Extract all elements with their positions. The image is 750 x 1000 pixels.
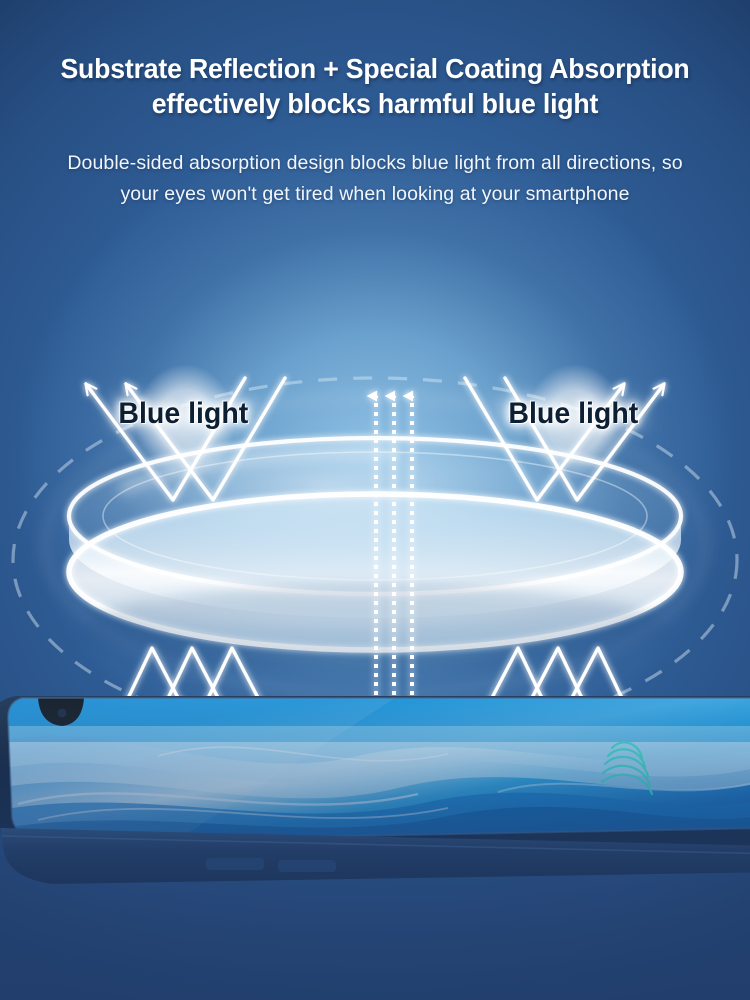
label-blue-light-right: Blue light [508, 397, 638, 431]
infographic-canvas: Substrate Reflection + Special Coating A… [0, 0, 750, 1000]
label-blue-light-left: Blue light [118, 397, 248, 431]
bottom-shade [0, 700, 750, 1000]
